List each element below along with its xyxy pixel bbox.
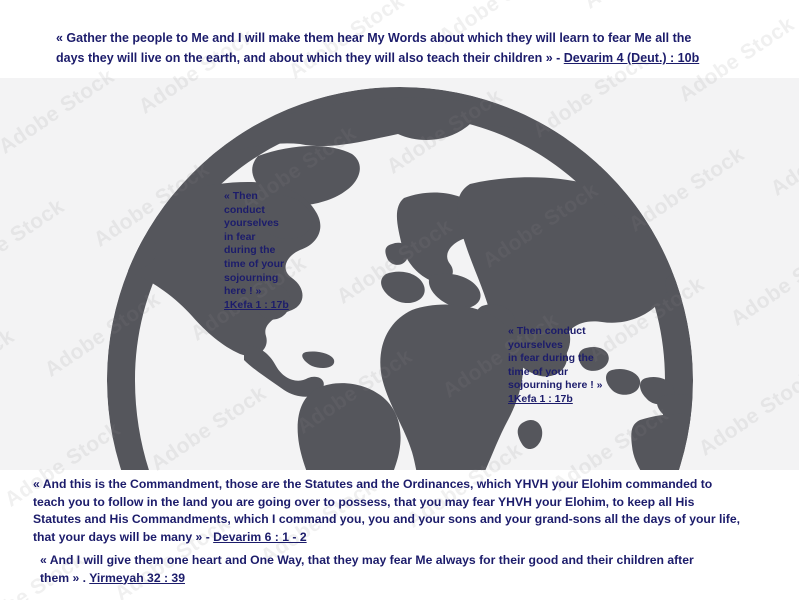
final-quote-reference: Yirmeyah 32 : 39 xyxy=(89,571,185,585)
caption-right-reference: 1Kefa 1 : 17b xyxy=(508,393,573,405)
final-quote-line2-text: them » . xyxy=(40,571,89,585)
caption-left-line6: time of your xyxy=(224,258,320,272)
header-quote-line1: « Gather the people to Me and I will mak… xyxy=(56,31,691,45)
caption-right-line4: time of your xyxy=(508,366,638,380)
final-quote-line1: « And I will give them one heart and One… xyxy=(40,552,760,570)
caption-right-line2: yourselves xyxy=(508,339,638,353)
final-scripture-quote: « And I will give them one heart and One… xyxy=(40,552,760,587)
globe-illustration-band xyxy=(0,78,799,470)
header-quote-reference: Devarim 4 (Deut.) : 10b xyxy=(564,51,699,65)
bottom-scripture-quote: « And this is the Commandment, those are… xyxy=(33,476,773,546)
caption-right-reference-wrap: 1Kefa 1 : 17b xyxy=(508,393,638,407)
caption-left-line4: in fear xyxy=(224,231,320,245)
poster-canvas: Adobe Stock Adobe Stock Adobe Stock Adob… xyxy=(0,0,799,600)
caption-right-line1: « Then conduct xyxy=(508,325,638,339)
watermark-text: Adobe Stock xyxy=(795,0,799,73)
caption-left-reference: 1Kefa 1 : 17b xyxy=(224,299,289,311)
caption-left-scripture: « Then conduct yourselves in fear during… xyxy=(224,190,320,312)
caption-left-line5: during the xyxy=(224,244,320,258)
bottom-quote-line3: Statutes and His Commandments, which I c… xyxy=(33,511,773,529)
caption-left-line2: conduct xyxy=(224,204,320,218)
bottom-quote-line4: that your days will be many » - Devarim … xyxy=(33,529,773,547)
caption-right-line5: sojourning here ! » xyxy=(508,379,638,393)
caption-left-line3: yourselves xyxy=(224,217,320,231)
caption-left-line8: here ! » xyxy=(224,285,320,299)
australia xyxy=(631,414,763,470)
header-quote-line2-text: days they will live on the earth, and ab… xyxy=(56,51,564,65)
caption-left-line1: « Then xyxy=(224,190,320,204)
header-quote-line2: days they will live on the earth, and ab… xyxy=(56,48,746,68)
japan xyxy=(665,272,691,300)
bottom-quote-line1: « And this is the Commandment, those are… xyxy=(33,476,773,494)
header-scripture-quote: « Gather the people to Me and I will mak… xyxy=(56,28,746,68)
final-quote-line2: them » . Yirmeyah 32 : 39 xyxy=(40,570,760,588)
bottom-quote-line4-text: that your days will be many » - xyxy=(33,530,213,544)
world-globe-graphic xyxy=(0,78,799,470)
watermark-text: Adobe Stock xyxy=(580,0,704,14)
caption-left-line7: sojourning xyxy=(224,272,320,286)
alaska xyxy=(99,232,157,270)
caption-right-scripture: « Then conduct yourselves in fear during… xyxy=(508,325,638,407)
caption-left-reference-wrap: 1Kefa 1 : 17b xyxy=(224,299,320,313)
bottom-quote-line2: teach you to follow in the land you are … xyxy=(33,494,773,512)
caption-right-line3: in fear during the xyxy=(508,352,638,366)
bottom-quote-reference: Devarim 6 : 1 - 2 xyxy=(213,530,306,544)
